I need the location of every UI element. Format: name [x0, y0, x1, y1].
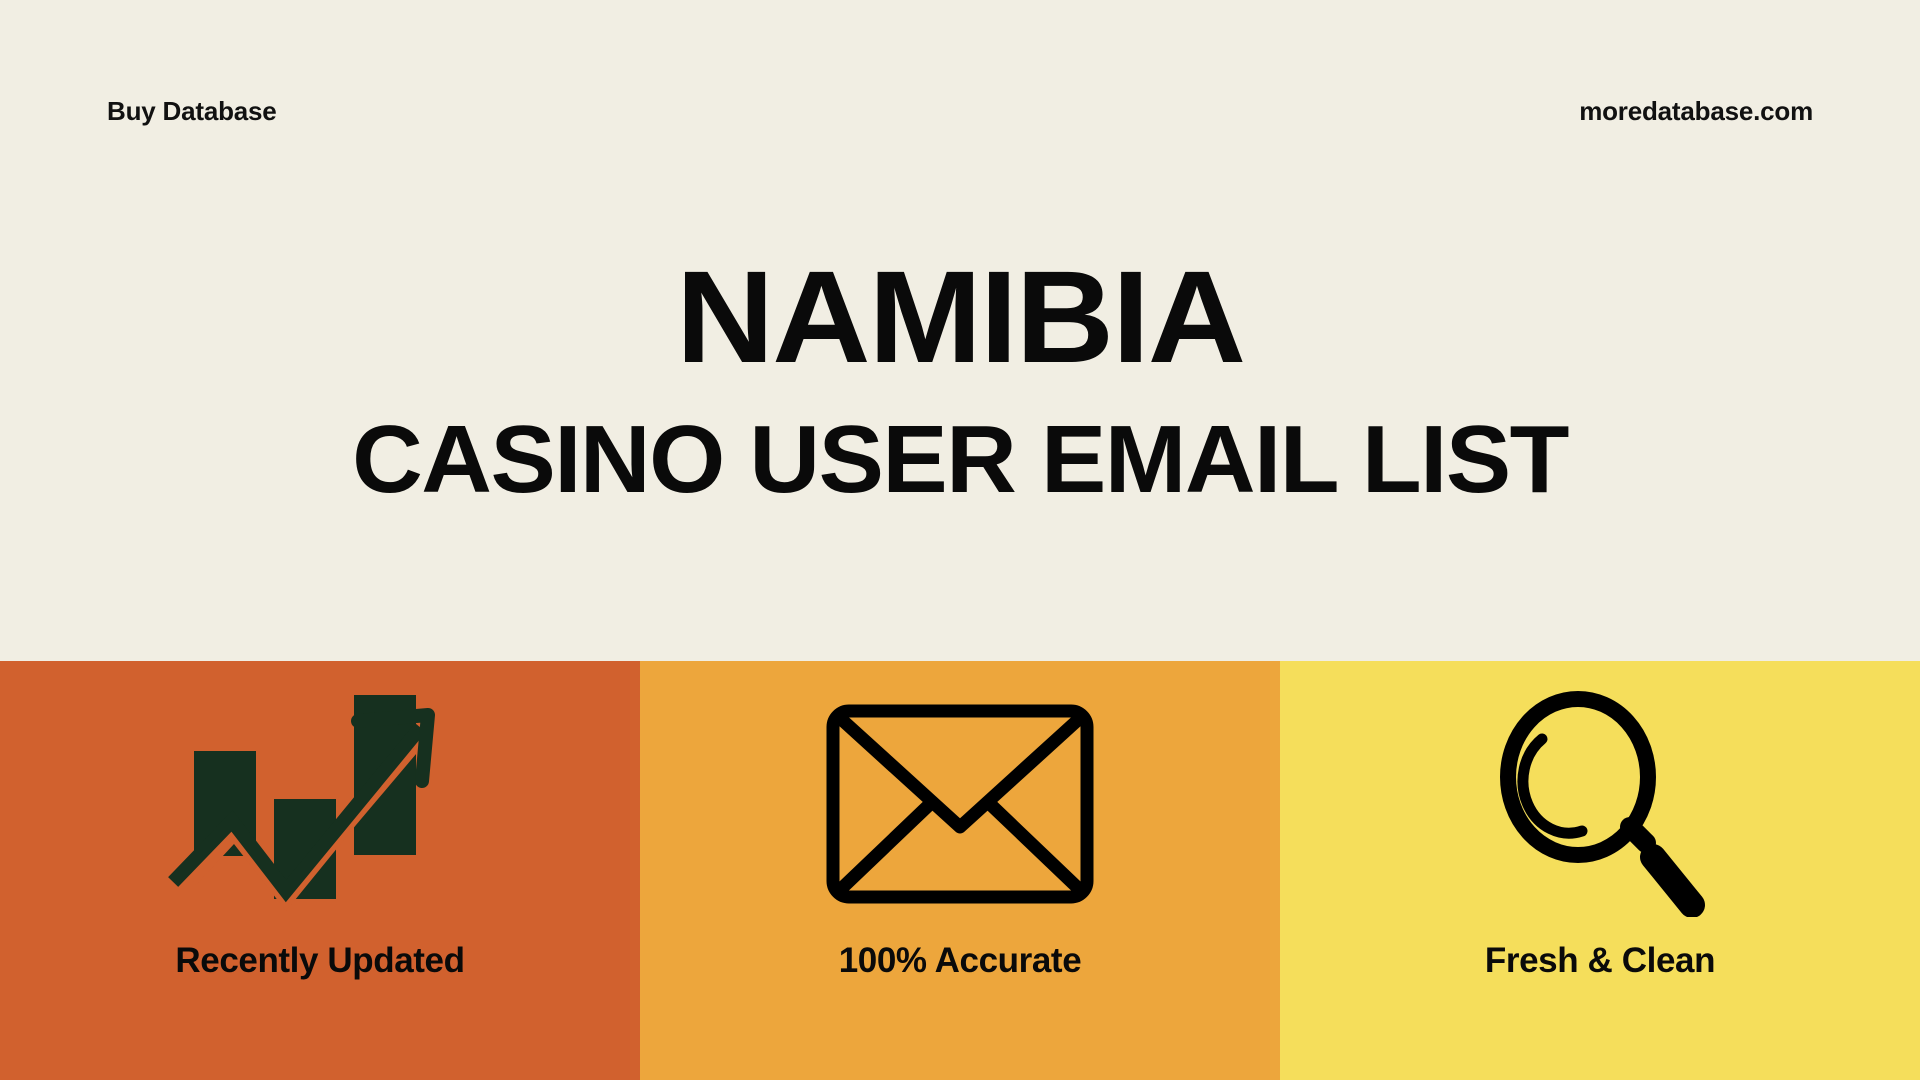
- magnifier-icon: [1490, 689, 1710, 919]
- page-subtitle: CASINO USER EMAIL LIST: [0, 412, 1920, 508]
- feature-label: Recently Updated: [0, 943, 640, 978]
- feature-strip: Recently Updated 100% Accurate: [0, 661, 1920, 1080]
- banner-header: Buy Database moredatabase.com: [0, 0, 1920, 200]
- bar-chart-growth-icon: [160, 689, 480, 919]
- envelope-icon: [826, 689, 1094, 919]
- website-url-label: moredatabase.com: [1579, 98, 1813, 124]
- feature-card-recently-updated: Recently Updated: [0, 661, 640, 1080]
- feature-card-accurate: 100% Accurate: [640, 661, 1280, 1080]
- feature-label: Fresh & Clean: [1280, 943, 1920, 978]
- promo-banner: Buy Database moredatabase.com NAMIBIA CA…: [0, 0, 1920, 1080]
- brand-label: Buy Database: [107, 98, 277, 124]
- feature-card-fresh-clean: Fresh & Clean: [1280, 661, 1920, 1080]
- hero-section: NAMIBIA CASINO USER EMAIL LIST: [0, 255, 1920, 508]
- feature-label: 100% Accurate: [640, 943, 1280, 978]
- page-title: NAMIBIA: [0, 255, 1920, 379]
